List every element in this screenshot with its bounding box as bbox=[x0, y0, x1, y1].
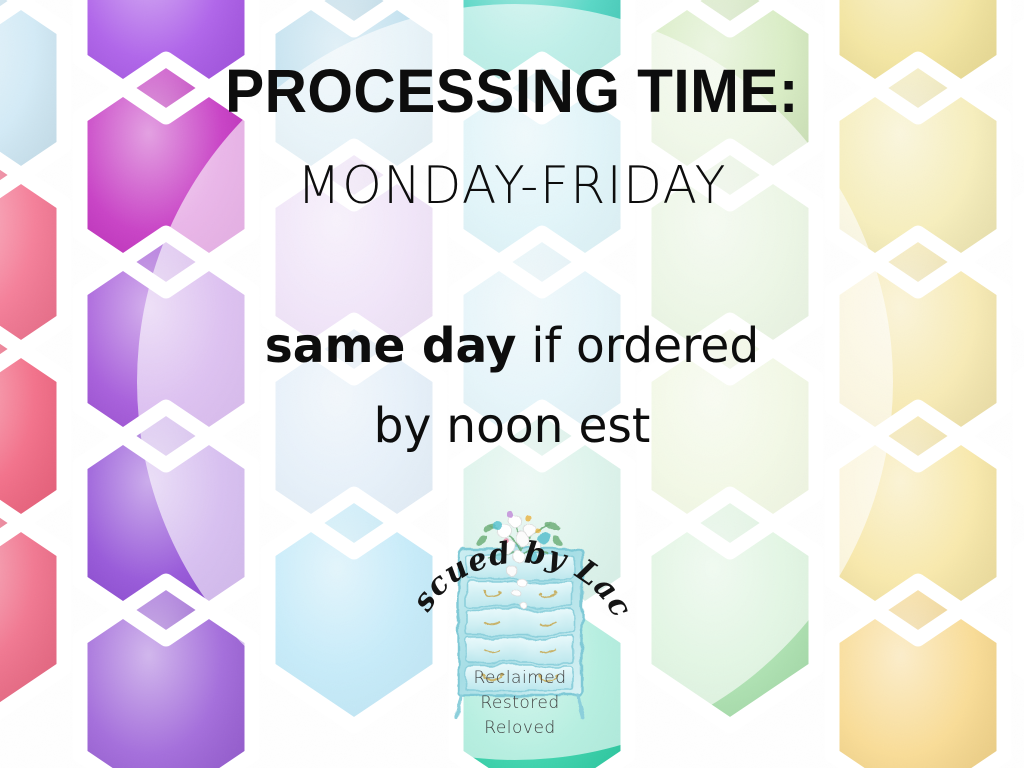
tagline-line-2: Restored bbox=[412, 693, 628, 713]
tagline-line-1: Reclaimed bbox=[412, 668, 628, 688]
tagline-line-3: Reloved bbox=[412, 718, 628, 738]
poster-canvas: PROCESSING TIME: MONDAY-FRIDAY same day … bbox=[0, 0, 1024, 768]
